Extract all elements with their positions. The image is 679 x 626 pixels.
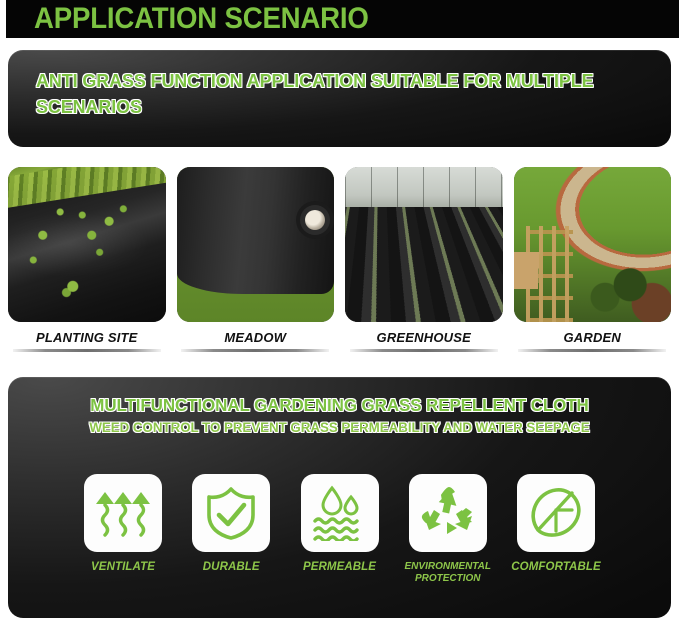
caption-cell-planting-site: PLANTING SITE bbox=[8, 330, 166, 352]
caption-cell-garden: GARDEN bbox=[514, 330, 672, 352]
feature-tile-durable bbox=[192, 474, 270, 552]
features-panel: MULTIFUNCTIONAL GARDENING GRASS REPELLEN… bbox=[8, 377, 671, 618]
feature-tile-permeable bbox=[301, 474, 379, 552]
feature-tile-comfortable bbox=[517, 474, 595, 552]
feature-permeable[interactable]: PERMEABLE bbox=[297, 474, 383, 585]
meadow-image bbox=[177, 167, 335, 322]
caption-meadow: MEADOW bbox=[177, 330, 335, 345]
feature-label-permeable: PERMEABLE bbox=[303, 561, 376, 574]
features-subtitle: WEED CONTROL TO PREVENT GRASS PERMEABILI… bbox=[11, 420, 667, 435]
feature-tile-environmental-protection bbox=[409, 474, 487, 552]
caption-cell-greenhouse: GREENHOUSE bbox=[345, 330, 503, 352]
feature-row: VENTILATE DURABLE bbox=[80, 474, 599, 585]
trellis-decoration bbox=[526, 226, 573, 322]
scenario-card-garden[interactable] bbox=[514, 167, 672, 322]
top-banner-heading: ANTI GRASS FUNCTION APPLICATION SUITABLE… bbox=[36, 68, 618, 120]
page-title: APPLICATION SCENARIO bbox=[34, 2, 369, 36]
shield-check-icon bbox=[204, 485, 258, 541]
caption-underline bbox=[518, 349, 666, 352]
scenario-card-meadow[interactable] bbox=[177, 167, 335, 322]
caption-underline bbox=[350, 349, 498, 352]
features-title: MULTIFUNCTIONAL GARDENING GRASS REPELLEN… bbox=[18, 395, 661, 416]
scenario-card-planting-site[interactable] bbox=[8, 167, 166, 322]
water-droplets-waves-icon bbox=[311, 485, 369, 541]
feature-label-environmental-protection: ENVIRONMENTAL PROTECTION bbox=[405, 561, 491, 585]
header-bar: APPLICATION SCENARIO bbox=[6, 0, 679, 38]
feature-comfortable[interactable]: COMFORTABLE bbox=[513, 474, 599, 585]
feature-environmental-protection[interactable]: ENVIRONMENTAL PROTECTION bbox=[405, 474, 491, 585]
caption-greenhouse: GREENHOUSE bbox=[345, 330, 503, 345]
recycle-icon bbox=[420, 486, 476, 540]
feature-ventilate[interactable]: VENTILATE bbox=[80, 474, 166, 585]
caption-planting-site: PLANTING SITE bbox=[8, 330, 166, 345]
greenhouse-image bbox=[345, 167, 503, 322]
garden-image bbox=[514, 167, 672, 322]
caption-underline bbox=[13, 349, 161, 352]
airflow-arrows-icon bbox=[95, 485, 151, 541]
scenario-card-greenhouse[interactable] bbox=[345, 167, 503, 322]
caption-cell-meadow: MEADOW bbox=[177, 330, 335, 352]
caption-underline bbox=[181, 349, 329, 352]
feature-label-durable: DURABLE bbox=[203, 561, 260, 574]
scenario-caption-row: PLANTING SITE MEADOW GREENHOUSE GARDEN bbox=[8, 330, 671, 352]
feature-label-ventilate: VENTILATE bbox=[91, 561, 155, 574]
feature-durable[interactable]: DURABLE bbox=[188, 474, 274, 585]
top-banner-panel: ANTI GRASS FUNCTION APPLICATION SUITABLE… bbox=[8, 50, 671, 147]
caption-garden: GARDEN bbox=[514, 330, 672, 345]
scenario-card-row bbox=[8, 167, 671, 322]
feature-tile-ventilate bbox=[84, 474, 162, 552]
planting-site-image bbox=[8, 167, 166, 322]
leaf-icon bbox=[528, 486, 584, 540]
feature-label-comfortable: COMFORTABLE bbox=[511, 561, 600, 574]
